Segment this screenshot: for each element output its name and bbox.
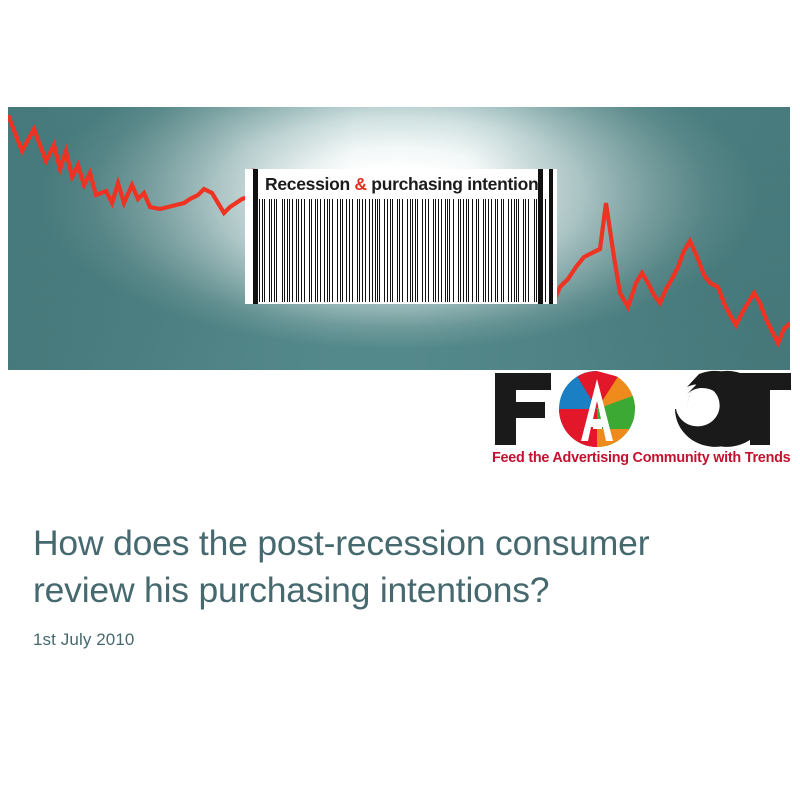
barcode-caption-after: purchasing intention (367, 174, 539, 194)
fact-wordmark (489, 369, 794, 449)
title-slide: Recession & purchasing intention (0, 0, 800, 800)
logo-letter-f (495, 373, 551, 445)
trend-line-right-segment (553, 169, 790, 343)
page-title: How does the post-recession consumer rev… (33, 520, 753, 614)
title-block: How does the post-recession consumer rev… (33, 520, 753, 650)
trend-line-left-segment (8, 115, 248, 213)
barcode-caption: Recession & purchasing intention (265, 172, 539, 197)
barcode-caption-ampersand: & (354, 174, 366, 194)
barcode-graphic: Recession & purchasing intention (245, 169, 557, 304)
fact-tagline: Feed the Advertising Community with Tren… (492, 450, 794, 466)
slide-date: 1st July 2010 (33, 630, 753, 650)
recession-banner-image: Recession & purchasing intention (8, 107, 790, 370)
barcode-guard-bar-right-outer (549, 169, 553, 304)
logo-letter-a-piechart (559, 371, 635, 447)
barcode-caption-before: Recession (265, 174, 354, 194)
barcode-bars (253, 199, 549, 302)
fact-logo: Feed the Advertising Community with Tren… (489, 369, 794, 477)
